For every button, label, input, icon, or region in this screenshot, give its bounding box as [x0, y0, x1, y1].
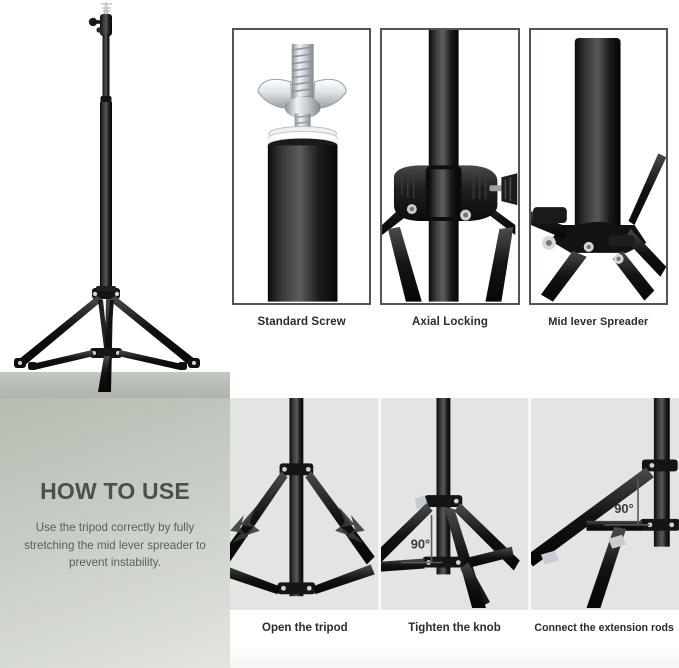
feature-card-frame [232, 28, 371, 305]
feature-card-label: Mid lever Spreader [529, 316, 668, 328]
steps-labels-row: Open the tripod Tighten the knob Connect… [230, 610, 679, 668]
feature-card-axial-locking: Axial Locking [380, 28, 519, 333]
mid-lever-spreader-icon [531, 30, 666, 302]
step-image-tighten-the-knob: 90° [378, 398, 529, 610]
how-to-use-title: HOW TO USE [14, 478, 216, 505]
feature-card-frame [529, 28, 668, 305]
step-label-tighten-the-knob: Tighten the knob [380, 610, 530, 668]
feature-card-label: Standard Screw [232, 316, 371, 328]
wing-nut-screw-icon [234, 30, 369, 302]
step-image-connect-the-extension-rods: 90° [528, 398, 679, 610]
step-label-open-the-tripod: Open the tripod [230, 610, 380, 668]
feature-card-frame [380, 28, 519, 305]
top-section: Standard Screw [0, 0, 679, 398]
how-to-use-block: HOW TO USE Use the tripod correctly by f… [0, 398, 230, 668]
tripod-illustration [0, 0, 230, 398]
axial-lock-knob-icon [382, 30, 517, 302]
angle-annotation: 90° [410, 537, 429, 552]
step-image-open-the-tripod [230, 398, 378, 610]
tripod-knob-angle-icon: 90° [381, 398, 529, 608]
product-infographic: Standard Screw [0, 0, 679, 668]
feature-cards: Standard Screw [232, 28, 668, 333]
feature-card-label: Axial Locking [380, 316, 519, 328]
feature-card-mid-lever-spreader: Mid lever Spreader [529, 28, 668, 333]
step-label-connect-the-extension-rods: Connect the extension rods [529, 610, 679, 668]
how-to-use-body: Use the tripod correctly by fully stretc… [14, 519, 216, 572]
tripod-extension-rods-icon: 90° [531, 398, 679, 608]
hero-product-image [0, 0, 230, 398]
steps-images-row: 90° [230, 398, 679, 610]
feature-card-standard-screw: Standard Screw [232, 28, 371, 333]
tripod-open-arrows-icon [230, 398, 378, 608]
bottom-section: HOW TO USE Use the tripod correctly by f… [0, 398, 679, 668]
steps-gallery: 90° [230, 398, 679, 668]
angle-annotation: 90° [615, 501, 634, 516]
